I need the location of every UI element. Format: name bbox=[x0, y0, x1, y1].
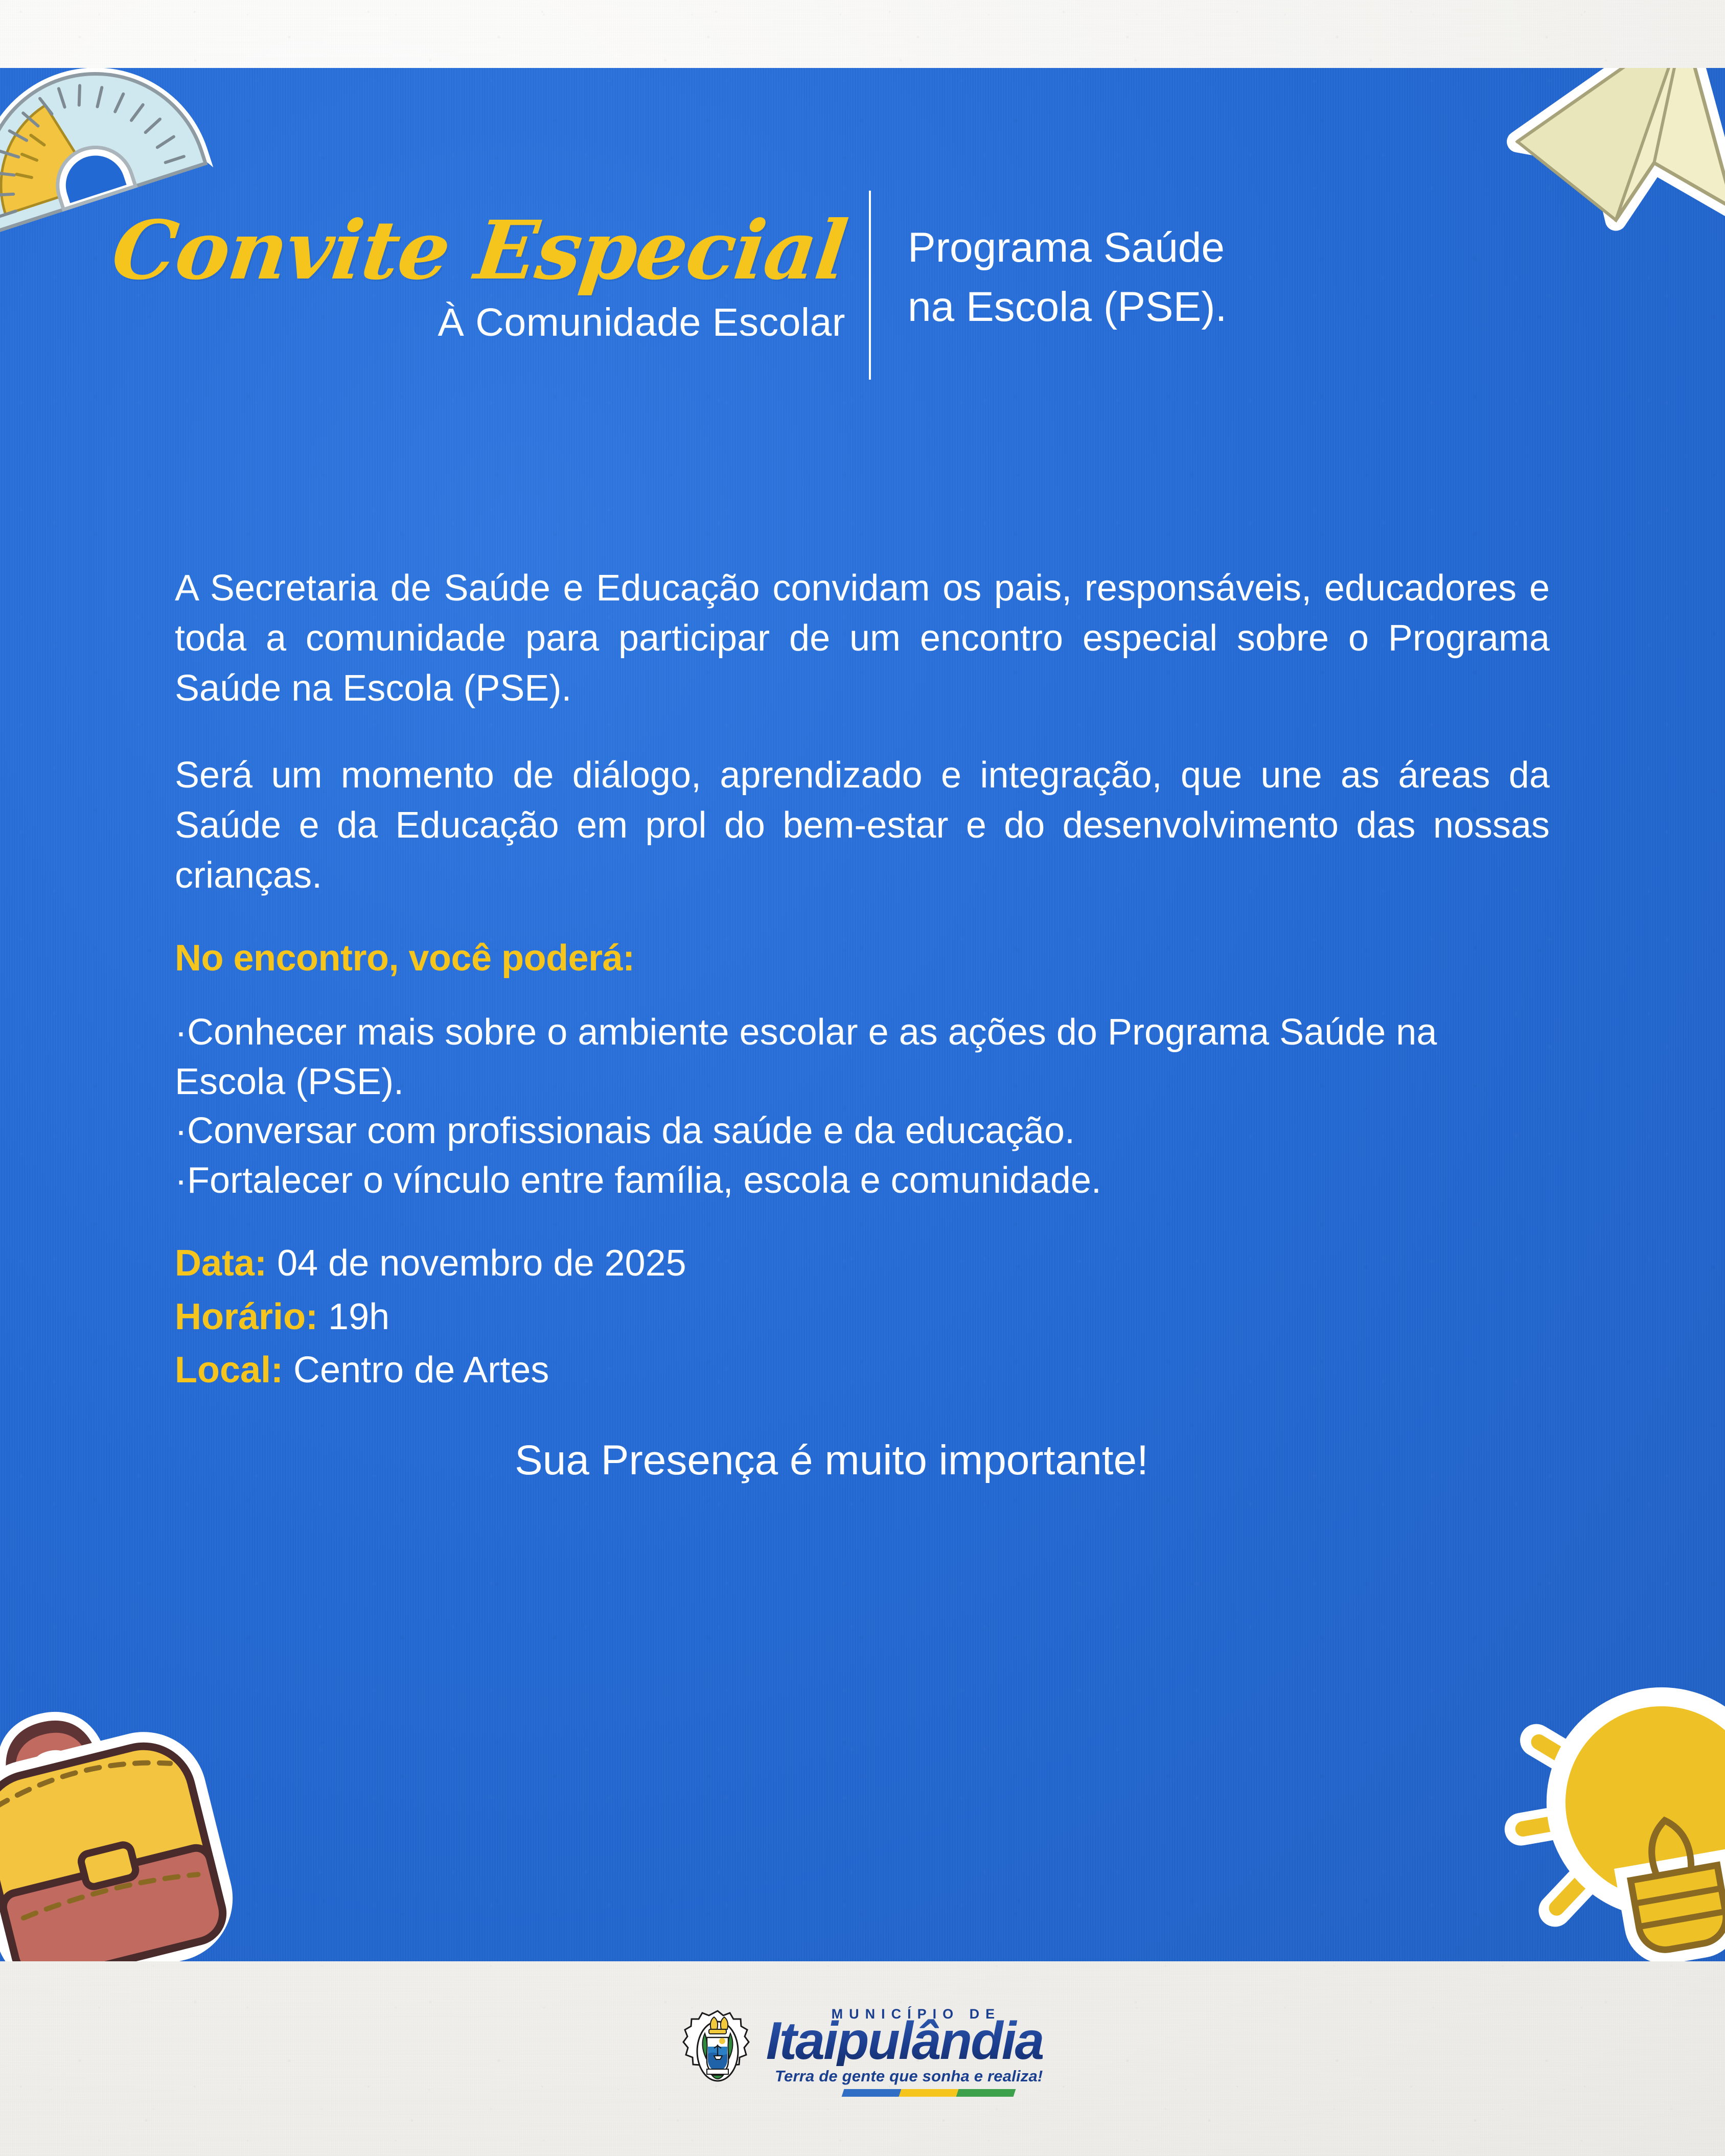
logo-bar-yellow bbox=[899, 2089, 958, 2097]
coat-of-arms-icon bbox=[682, 2009, 753, 2094]
description-paragraph: Será um momento de diálogo, aprendizado … bbox=[175, 751, 1550, 901]
detail-value-date: 04 de novembro de 2025 bbox=[277, 1243, 686, 1284]
program-title-line-1: Programa Saúde bbox=[908, 218, 1227, 277]
detail-value-time: 19h bbox=[328, 1296, 389, 1337]
header-right-block: Programa Saúde na Escola (PSE). bbox=[871, 218, 1227, 337]
detail-label-location: Local: bbox=[175, 1350, 283, 1390]
poster-blue-panel: Convite Especial À Comunidade Escolar Pr… bbox=[0, 68, 1725, 1961]
intro-paragraph: A Secretaria de Saúde e Educação convida… bbox=[175, 564, 1550, 714]
logo-bar-green bbox=[956, 2089, 1016, 2097]
closing-call-to-action: Sua Presença é muito importante! bbox=[175, 1436, 1550, 1485]
detail-row-date: Data: 04 de novembro de 2025 bbox=[175, 1237, 1550, 1290]
detail-label-time: Horário: bbox=[175, 1296, 318, 1337]
header-left-block: Convite Especial À Comunidade Escolar bbox=[0, 210, 869, 345]
logo-bar-blue bbox=[841, 2089, 901, 2097]
logo-color-bars bbox=[841, 2089, 1044, 2097]
poster-header: Convite Especial À Comunidade Escolar Pr… bbox=[0, 165, 1725, 390]
list-item: ·Conversar com profissionais da saúde e … bbox=[175, 1106, 1550, 1155]
logo-tagline: Terra de gente que sonha e realiza! bbox=[766, 2067, 1043, 2085]
detail-row-location: Local: Centro de Artes bbox=[175, 1343, 1550, 1397]
invitation-subtitle: À Comunidade Escolar bbox=[438, 300, 845, 345]
detail-value-location: Centro de Artes bbox=[293, 1350, 549, 1390]
municipality-logo: MUNICÍPIO DE Itaipulândia Terra de gente… bbox=[682, 2006, 1043, 2097]
logo-wordmark: Itaipulândia bbox=[766, 2017, 1043, 2066]
logo-text-block: MUNICÍPIO DE Itaipulândia Terra de gente… bbox=[766, 2006, 1043, 2097]
detail-label-date: Data: bbox=[175, 1243, 267, 1284]
detail-row-time: Horário: 19h bbox=[175, 1290, 1550, 1343]
invitation-script-title: Convite Especial bbox=[108, 210, 850, 292]
list-item: ·Conhecer mais sobre o ambiente escolar … bbox=[175, 1008, 1550, 1106]
program-title-line-2: na Escola (PSE). bbox=[908, 277, 1227, 337]
section-heading: No encontro, você poderá: bbox=[175, 937, 1550, 979]
poster-footer: MUNICÍPIO DE Itaipulândia Terra de gente… bbox=[0, 1961, 1725, 2156]
list-item: ·Fortalecer o vínculo entre família, esc… bbox=[175, 1156, 1550, 1205]
event-details: Data: 04 de novembro de 2025 Horário: 19… bbox=[175, 1237, 1550, 1397]
benefits-list: ·Conhecer mais sobre o ambiente escolar … bbox=[175, 1008, 1550, 1205]
poster-content: A Secretaria de Saúde e Educação convida… bbox=[175, 564, 1550, 1485]
